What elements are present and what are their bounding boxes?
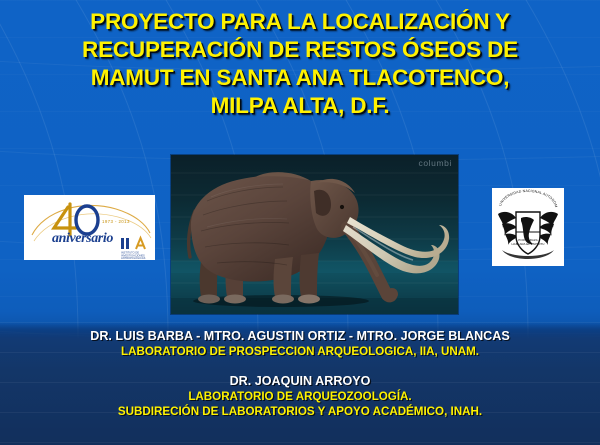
anniversary-years: 1973 - 2013 — [102, 219, 130, 224]
page-title: PROYECTO PARA LA LOCALIZACIÓN Y RECUPERA… — [0, 8, 600, 120]
credits-block: DR. LUIS BARBA - MTRO. AGUSTIN ORTIZ - M… — [0, 328, 600, 419]
credit-affiliation-group-two-line-2: SUBDIRECIÓN DE LABORATORIOS Y APOYO ACAD… — [0, 404, 600, 419]
photo-caption-text: columbi — [419, 158, 453, 168]
mammoth-photo: columbi — [171, 155, 458, 314]
title-line-3: MAMUT EN SANTA ANA TLACOTENCO, — [0, 64, 600, 92]
unam-motto-2: HABLARA EL ESPIRITU — [512, 242, 545, 246]
anniversary-word: aniversario — [52, 231, 113, 246]
credit-affiliation-group-two-line-1: LABORATORIO DE ARQUEOZOOLOGÍA. — [0, 389, 600, 404]
title-line-4: MILPA ALTA, D.F. — [0, 92, 600, 120]
title-line-1: PROYECTO PARA LA LOCALIZACIÓN Y — [0, 8, 600, 36]
unam-seal-logo: UNIVERSIDAD NACIONAL AUTONOMA DE MEXICO … — [492, 188, 564, 266]
credit-affiliation-group-one: LABORATORIO DE PROSPECCION ARQUEOLOGICA,… — [0, 344, 600, 359]
credit-names-group-one: DR. LUIS BARBA - MTRO. AGUSTIN ORTIZ - M… — [0, 328, 600, 344]
presentation-slide: PROYECTO PARA LA LOCALIZACIÓN Y RECUPERA… — [0, 0, 600, 445]
iia-mark — [121, 238, 145, 249]
anniversary-logo: 1973 - 2013 aniversario INSTITUTO DE INV… — [24, 195, 155, 260]
credit-names-group-two: DR. JOAQUIN ARROYO — [0, 373, 600, 389]
credits-spacer — [0, 359, 600, 373]
title-line-2: RECUPERACIÓN DE RESTOS ÓSEOS DE — [0, 36, 600, 64]
